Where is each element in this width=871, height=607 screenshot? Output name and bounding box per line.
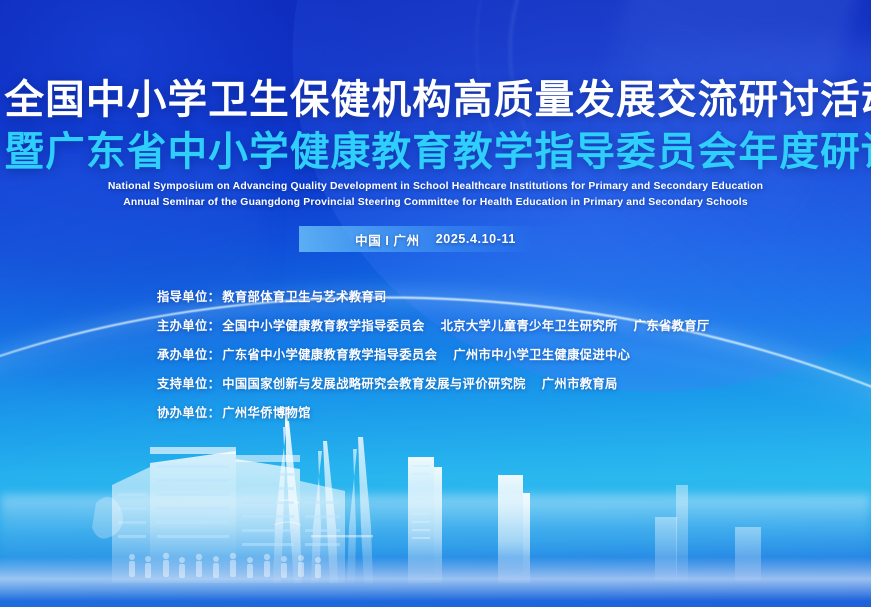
tree-shape — [92, 497, 123, 539]
subtitle-line-1: National Symposium on Advancing Quality … — [0, 179, 871, 195]
canton-tower — [273, 407, 302, 583]
organizer-row: 支持单位：中国国家创新与发展战略研究会教育发展与评价研究院广州市教育局 — [157, 374, 710, 392]
city-base-glow — [0, 557, 871, 601]
organizer-row: 承办单位：广东省中小学健康教育教学指导委员会广州市中小学卫生健康促进中心 — [157, 345, 710, 363]
subtitle-block: National Symposium on Advancing Quality … — [0, 179, 871, 210]
ground-haze — [0, 495, 871, 575]
organizer-name: 广州市中小学卫生健康促进中心 — [453, 345, 630, 363]
organizer-label: 主办单位： — [157, 316, 220, 334]
organizer-label: 指导单位： — [157, 287, 220, 305]
event-location: 中国 I 广州 — [355, 230, 420, 249]
organizer-row: 指导单位：教育部体育卫生与艺术教育司 — [157, 287, 710, 305]
organizer-row: 主办单位：全国中小学健康教育教学指导委员会北京大学儿童青少年卫生研究所广东省教育… — [157, 316, 710, 334]
organizer-values: 中国国家创新与发展战略研究会教育发展与评价研究院广州市教育局 — [222, 374, 617, 392]
organizer-name: 中国国家创新与发展战略研究会教育发展与评价研究院 — [222, 374, 526, 392]
organizer-values: 全国中小学健康教育教学指导委员会北京大学儿童青少年卫生研究所广东省教育厅 — [222, 316, 709, 334]
organizer-label: 协办单位： — [157, 403, 220, 421]
organizer-values: 广州华侨博物馆 — [222, 403, 311, 421]
organizer-name: 广东省中小学健康教育教学指导委员会 — [222, 345, 437, 363]
event-date: 2025.4.10-11 — [436, 232, 516, 246]
office-towers — [408, 457, 530, 583]
cityscape-silhouette — [0, 407, 871, 607]
event-info-badge-wrap: 中国 I 广州 2025.4.10-11 — [0, 226, 871, 252]
organizer-label: 承办单位： — [157, 345, 220, 363]
twin-spire-towers — [311, 437, 373, 583]
bottom-fade — [0, 477, 871, 607]
organizer-list: 指导单位：教育部体育卫生与艺术教育司主办单位：全国中小学健康教育教学指导委员会北… — [157, 287, 710, 421]
student-figures — [129, 553, 321, 578]
title-block: 全国中小学卫生保健机构高质量发展交流研讨活动 暨广东省中小学健康教育教学指导委员… — [0, 74, 871, 178]
organizer-label: 支持单位： — [157, 374, 220, 392]
organizer-name: 广州华侨博物馆 — [222, 403, 311, 421]
organizer-name: 北京大学儿童青少年卫生研究所 — [441, 316, 618, 334]
organizer-values: 教育部体育卫生与艺术教育司 — [222, 287, 386, 305]
organizer-row: 协办单位：广州华侨博物馆 — [157, 403, 710, 421]
title-line-2: 暨广东省中小学健康教育教学指导委员会年度研讨活动 — [4, 126, 866, 178]
organizer-name: 全国中小学健康教育教学指导委员会 — [222, 316, 424, 334]
school-building — [92, 447, 345, 583]
subtitle-line-2: Annual Seminar of the Guangdong Provinci… — [0, 195, 871, 211]
organizer-name: 教育部体育卫生与艺术教育司 — [222, 287, 386, 305]
title-line-1: 全国中小学卫生保健机构高质量发展交流研讨活动 — [4, 74, 866, 126]
conference-banner: 全国中小学卫生保健机构高质量发展交流研讨活动 暨广东省中小学健康教育教学指导委员… — [0, 0, 871, 607]
organizer-name: 广州市教育局 — [542, 374, 618, 392]
event-info-badge: 中国 I 广州 2025.4.10-11 — [299, 226, 573, 252]
organizer-name: 广东省教育厅 — [634, 316, 710, 334]
skyline-far-right — [655, 485, 761, 582]
organizer-values: 广东省中小学健康教育教学指导委员会广州市中小学卫生健康促进中心 — [222, 345, 630, 363]
